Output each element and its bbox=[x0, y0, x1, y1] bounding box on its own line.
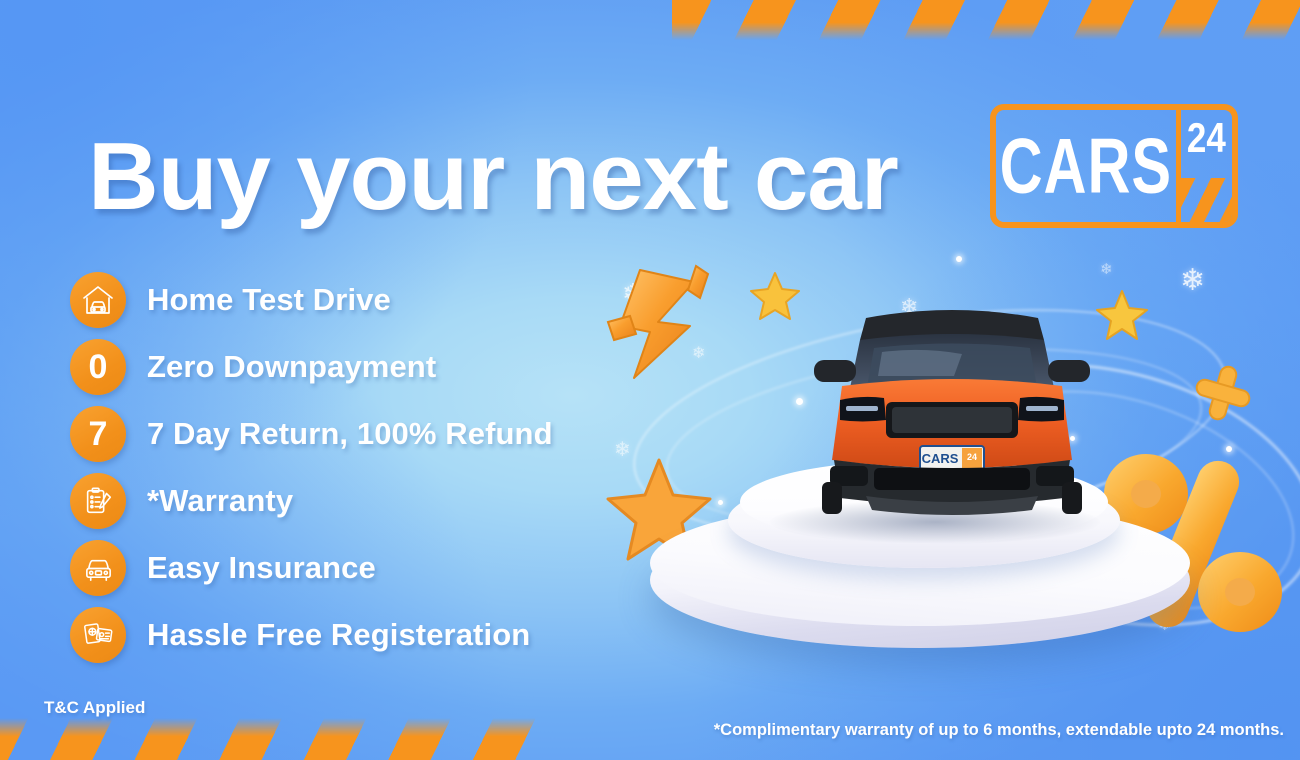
logo-word: CARS bbox=[1000, 121, 1173, 210]
car-front-icon bbox=[70, 540, 126, 596]
terms-conditions-note: T&C Applied bbox=[44, 698, 145, 718]
documents-icon bbox=[70, 607, 126, 663]
feature-item-easy-insurance: Easy Insurance bbox=[70, 540, 553, 596]
feature-item-seven-day-return: 7 7 Day Return, 100% Refund bbox=[70, 406, 553, 462]
feature-label: Easy Insurance bbox=[147, 550, 376, 586]
car-image: CARS 24 bbox=[808, 290, 1096, 520]
bottom-left-stripe-decoration bbox=[0, 718, 552, 760]
logo-number-box: 24 bbox=[1181, 110, 1232, 222]
plus-3d-icon bbox=[1192, 362, 1254, 424]
lightning-bolt-3d-icon bbox=[604, 264, 712, 384]
zero-number-icon: 0 bbox=[70, 339, 126, 395]
snowflake-icon: ❄ bbox=[1180, 266, 1205, 296]
feature-badge: 0 bbox=[89, 350, 108, 384]
hero-scene: ❄ ❄ ❄ ❄ ❄ ❄ ❄ ❄ bbox=[600, 250, 1300, 680]
feature-label: Home Test Drive bbox=[147, 282, 391, 318]
cars24-logo[interactable]: CARS 24 bbox=[990, 104, 1238, 228]
warranty-disclaimer: *Complimentary warranty of up to 6 month… bbox=[714, 721, 1284, 740]
logo-number: 24 bbox=[1187, 115, 1226, 162]
home-car-icon bbox=[70, 272, 126, 328]
logo-stripe-decoration bbox=[1181, 178, 1232, 222]
logo-word-box: CARS bbox=[996, 110, 1181, 222]
sparkle-dot-icon bbox=[956, 256, 962, 262]
svg-text:CARS: CARS bbox=[922, 451, 959, 466]
promo-banner: ❄ ❄ ❄ ❄ ❄ ❄ ❄ ❄ bbox=[0, 0, 1300, 760]
star-3d-icon bbox=[1096, 288, 1148, 340]
feature-list: Home Test Drive 0 Zero Downpayment 7 7 D… bbox=[70, 272, 553, 674]
feature-item-warranty: *Warranty bbox=[70, 473, 553, 529]
feature-item-home-test-drive: Home Test Drive bbox=[70, 272, 553, 328]
feature-item-zero-downpayment: 0 Zero Downpayment bbox=[70, 339, 553, 395]
seven-number-icon: 7 bbox=[70, 406, 126, 462]
snowflake-icon: ❄ bbox=[1100, 262, 1113, 277]
feature-label: Hassle Free Registeration bbox=[147, 617, 530, 653]
page-title: Buy your next car bbox=[88, 128, 898, 226]
clipboard-pen-icon bbox=[70, 473, 126, 529]
sparkle-dot-icon bbox=[796, 398, 803, 405]
feature-item-hassle-free-registration: Hassle Free Registeration bbox=[70, 607, 553, 663]
feature-label: 7 Day Return, 100% Refund bbox=[147, 416, 553, 452]
feature-badge: 7 bbox=[89, 417, 108, 451]
top-right-stripe-decoration bbox=[672, 0, 1300, 40]
star-3d-icon bbox=[750, 270, 800, 320]
feature-label: Zero Downpayment bbox=[147, 349, 436, 385]
svg-text:24: 24 bbox=[967, 452, 977, 462]
sparkle-dot-icon bbox=[718, 500, 723, 505]
feature-label: *Warranty bbox=[147, 483, 293, 519]
